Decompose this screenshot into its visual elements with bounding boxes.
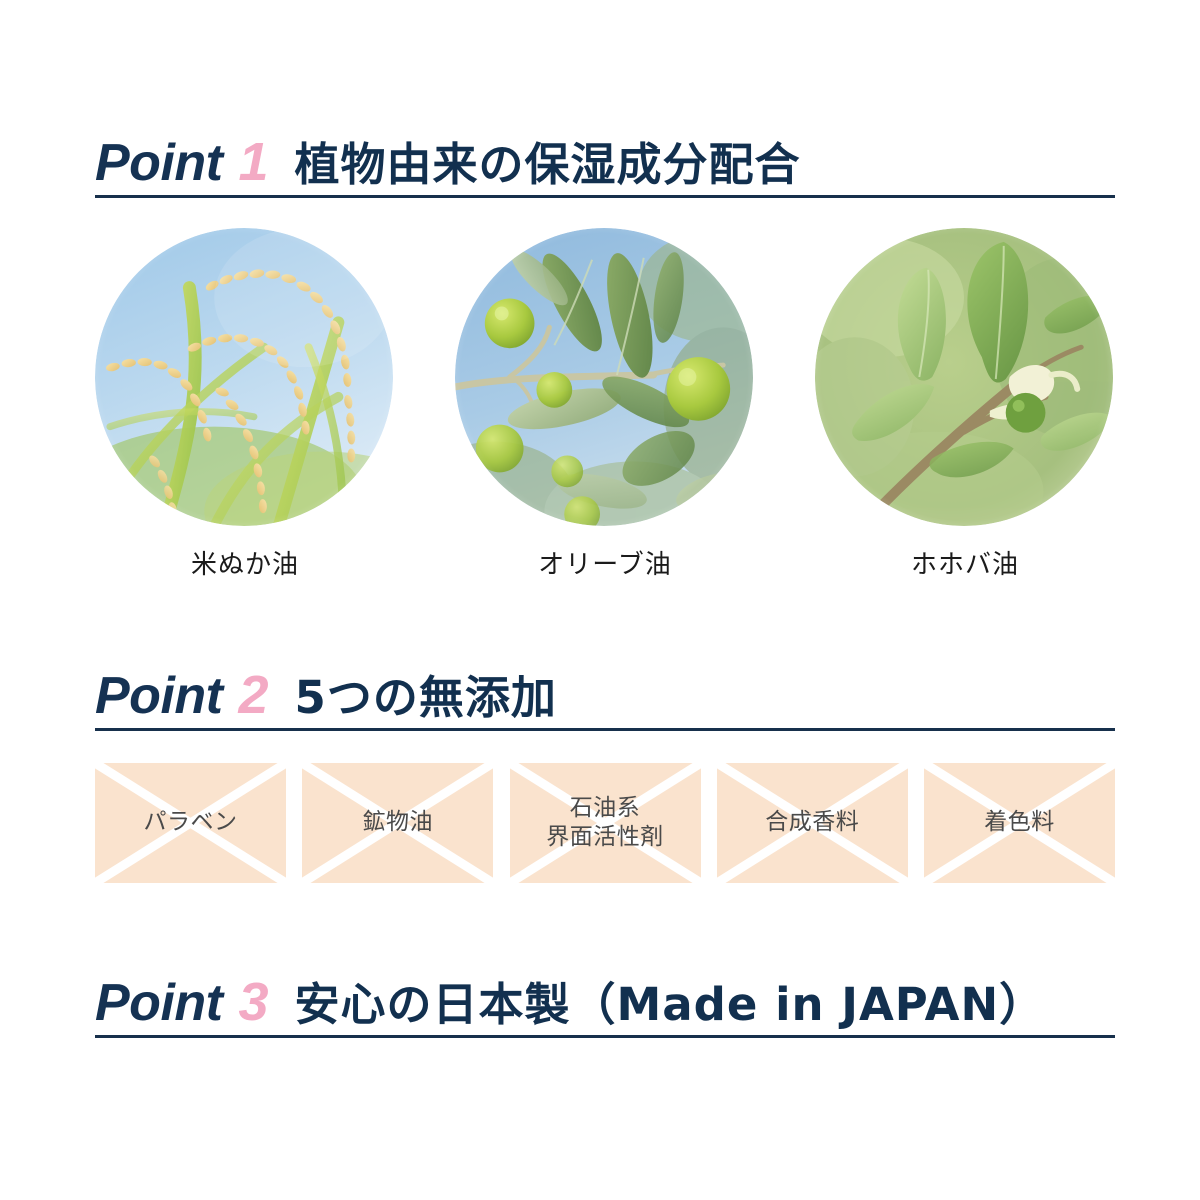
olive-branch-photo bbox=[455, 228, 753, 526]
free-from-item-petroleum-surfactant: 石油系 界面活性剤 bbox=[510, 763, 701, 883]
section-title-2: 5つの無添加 bbox=[295, 675, 557, 720]
heading-point-2: Point 2 5つの無添加 bbox=[95, 668, 1115, 728]
rice-ear-photo bbox=[95, 228, 393, 526]
free-from-item-colorant: 着色料 bbox=[924, 763, 1115, 883]
free-from-item-mineral-oil: 鉱物油 bbox=[302, 763, 493, 883]
point-word-label: Point bbox=[95, 977, 222, 1029]
product-features-page: Point 1 植物由来の保湿成分配合 bbox=[0, 0, 1200, 1200]
section-title-3: 安心の日本製（Made in JAPAN） bbox=[295, 982, 1046, 1027]
heading-divider-1 bbox=[95, 195, 1115, 198]
heading-point-3: Point 3 安心の日本製（Made in JAPAN） bbox=[95, 975, 1115, 1035]
free-from-item-synthetic-fragrance: 合成香料 bbox=[717, 763, 908, 883]
free-from-label: 合成香料 bbox=[765, 808, 859, 837]
ingredient-item-rice: 米ぬか油 bbox=[95, 228, 395, 533]
free-from-label: 鉱物油 bbox=[363, 808, 434, 837]
point-number-label: 1 bbox=[238, 135, 268, 189]
free-from-row: パラベン 鉱物油 石油系 界面活性剤 合成香料 bbox=[95, 763, 1115, 883]
section-point-3: Point 3 安心の日本製（Made in JAPAN） bbox=[95, 975, 1115, 1038]
section-point-2: Point 2 5つの無添加 bbox=[95, 668, 1115, 731]
ingredient-label-olive: オリーブ油 bbox=[455, 544, 755, 581]
free-from-label: 着色料 bbox=[984, 808, 1055, 837]
heading-point-1: Point 1 植物由来の保湿成分配合 bbox=[95, 135, 1115, 195]
jojoba-branch-photo bbox=[815, 228, 1113, 526]
ingredient-label-jojoba: ホホバ油 bbox=[815, 544, 1115, 581]
section-title-1: 植物由来の保湿成分配合 bbox=[295, 142, 801, 187]
section-point-1: Point 1 植物由来の保湿成分配合 bbox=[95, 135, 1115, 198]
free-from-label: パラベン bbox=[144, 808, 238, 837]
free-from-item-paraben: パラベン bbox=[95, 763, 286, 883]
ingredient-label-rice: 米ぬか油 bbox=[95, 544, 395, 581]
free-from-label: 石油系 界面活性剤 bbox=[546, 794, 664, 853]
heading-divider-3 bbox=[95, 1035, 1115, 1038]
point-word-label: Point bbox=[95, 137, 222, 189]
point-number-label: 3 bbox=[238, 975, 268, 1029]
ingredient-item-jojoba: ホホバ油 bbox=[815, 228, 1115, 533]
ingredient-item-olive: オリーブ油 bbox=[455, 228, 755, 533]
point-word-label: Point bbox=[95, 670, 222, 722]
point-number-label: 2 bbox=[238, 668, 268, 722]
ingredient-circle-row: 米ぬか油 bbox=[95, 228, 1115, 533]
heading-divider-2 bbox=[95, 728, 1115, 731]
